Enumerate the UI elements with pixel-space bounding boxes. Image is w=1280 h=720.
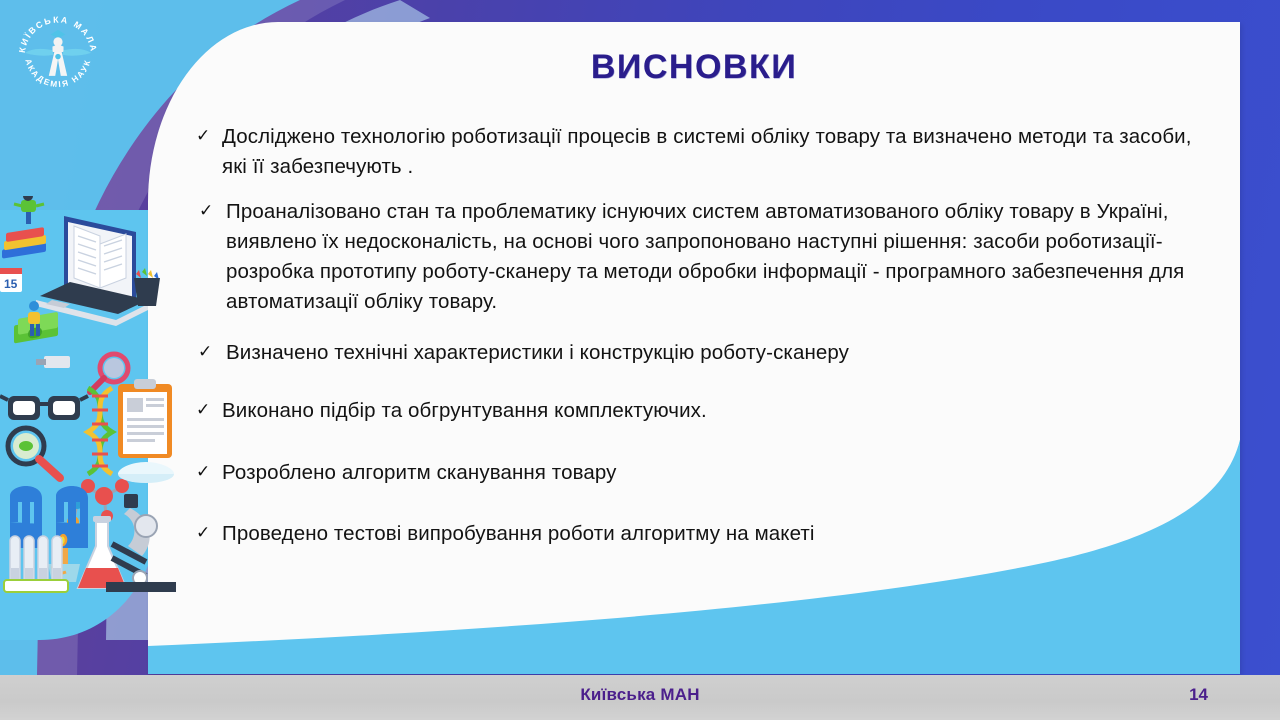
logo-text-bottom: АКАДЕМІЯ НАУК [23,58,92,89]
checkmark-icon: ✓ [196,458,210,486]
dna-helix-icon [88,388,112,474]
pencil-cup-icon [134,268,160,306]
list-item-text: Виконано підбір та обгрунтування комплек… [222,399,707,422]
list-item: ✓ Досліджено технологію роботизації проц… [196,122,1196,181]
eyeglasses-icon [0,396,88,420]
list-item: ✓ Проведено тестові випробування роботи … [196,519,1196,549]
list-item: ✓ Виконано підбір та обгрунтування компл… [196,396,1196,426]
clipboard-icon [118,379,172,458]
list-item-text: Визначено технічні характеристики і конс… [226,341,849,364]
list-item-text: Проведено тестові випробування роботи ал… [222,522,815,545]
checkmark-icon: ✓ [199,197,213,225]
slide-footer: Київська МАН 14 [0,675,1280,720]
list-item: ✓ Визначено технічні характеристики і ко… [196,338,1196,368]
svg-text:15: 15 [4,277,18,291]
checkmark-icon: ✓ [196,122,210,150]
usb-drive-icon [36,356,70,368]
content-panel: ВИСНОВКИ ✓ Досліджено технологію роботиз… [148,22,1240,674]
presentation-slide: ВИСНОВКИ ✓ Досліджено технологію роботиз… [0,0,1280,720]
calendar-icon: 15 [0,268,22,292]
science-education-illustration: 15 [0,196,176,636]
list-item: ✓ Проаналізовано стан та проблематику іс… [196,197,1196,316]
petri-dish-icon [118,462,174,483]
page-number: 14 [1189,685,1208,705]
academy-logo: КИЇВСЬКА МАЛА АКАДЕМІЯ НАУК [12,6,104,98]
checkmark-icon: ✓ [198,338,212,366]
footer-title: Київська МАН [0,685,1280,705]
svg-text:АКАДЕМІЯ НАУК: АКАДЕМІЯ НАУК [23,58,92,89]
checkmark-icon: ✓ [196,396,210,424]
checkmark-icon: ✓ [196,519,210,547]
magnifier-green-icon [8,428,60,478]
list-item-text: Досліджено технологію роботизації процес… [222,125,1192,178]
list-item: ✓ Розроблено алгоритм сканування товару [196,458,1196,488]
person-on-books-icon [2,196,46,259]
page-title: ВИСНОВКИ [148,48,1240,87]
conclusions-list: ✓ Досліджено технологію роботизації проц… [196,122,1196,549]
list-item-text: Розроблено алгоритм сканування товару [222,461,616,484]
list-item-text: Проаналізовано стан та проблематику існу… [226,200,1184,312]
